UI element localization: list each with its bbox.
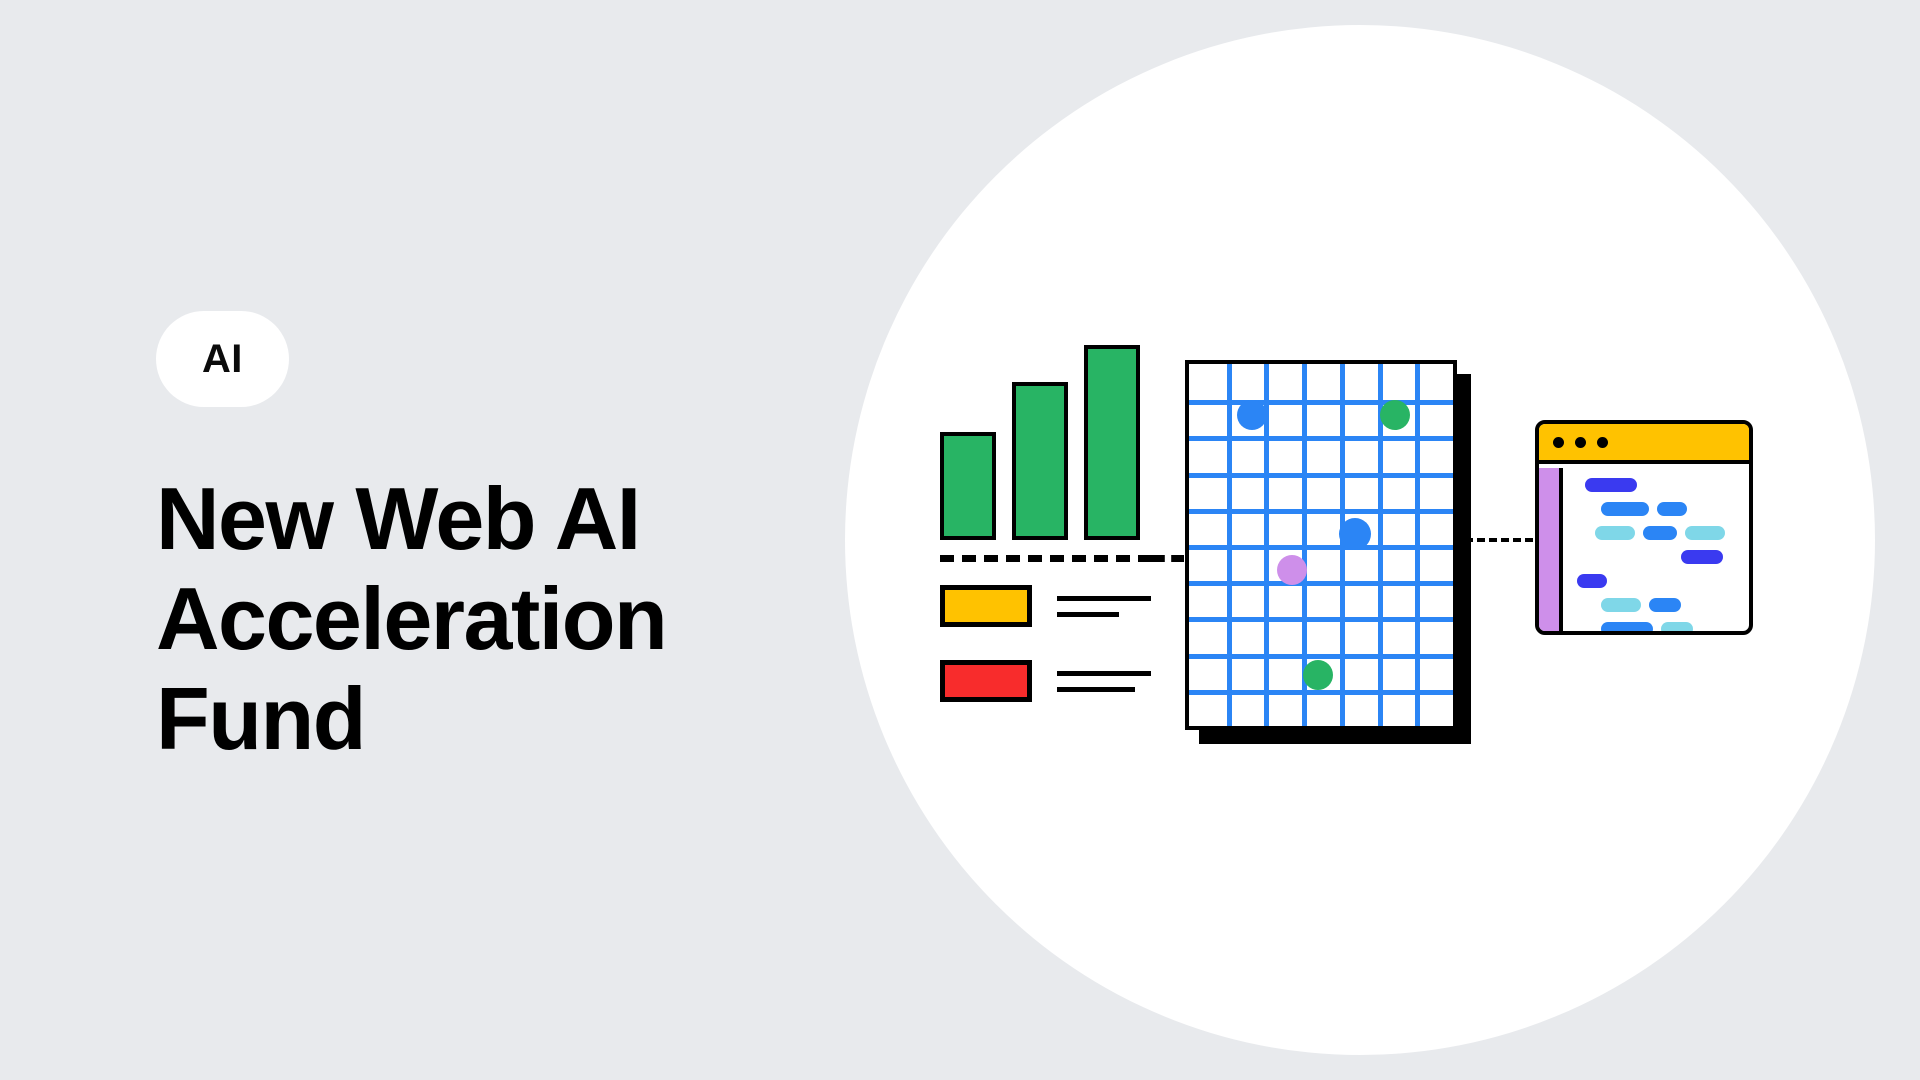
code-editor-window[interactable] (1535, 420, 1753, 635)
grid-line-horizontal (1189, 400, 1453, 405)
legend-row-yellow (940, 585, 1151, 627)
code-window-body (1539, 468, 1749, 631)
scatter-point-5 (1303, 660, 1333, 690)
grid-line-horizontal (1189, 690, 1453, 695)
code-token (1601, 622, 1653, 635)
scatter-point-3 (1339, 518, 1371, 550)
grid-line-horizontal (1189, 617, 1453, 622)
headline-line-3: Fund (156, 669, 365, 768)
scatter-grid-card (1185, 360, 1457, 730)
grid-line-horizontal (1189, 545, 1453, 550)
bar-chart-bar-3 (1084, 345, 1140, 540)
code-token (1657, 502, 1687, 516)
grid-line-horizontal (1189, 436, 1453, 441)
code-lines-container (1563, 468, 1749, 631)
legend-line (1057, 596, 1151, 601)
chart-dashed-divider (940, 555, 1152, 562)
headline-line-1: New Web AI (156, 469, 640, 568)
legend-text-lines (1057, 671, 1151, 692)
hero-text-column: AI New Web AI Acceleration Fund (156, 0, 856, 1080)
scatter-point-2 (1380, 400, 1410, 430)
grid-to-code-connector (1465, 538, 1533, 542)
code-token (1661, 622, 1693, 635)
hero-illustration (845, 25, 1875, 1055)
code-token (1681, 550, 1723, 564)
scatter-point-4 (1277, 555, 1307, 585)
grid-card-surface (1185, 360, 1457, 730)
grid-line-horizontal (1189, 509, 1453, 514)
window-control-dot[interactable] (1597, 437, 1608, 448)
window-control-dot[interactable] (1575, 437, 1586, 448)
code-token (1643, 526, 1677, 540)
legend-line (1057, 612, 1119, 617)
code-token (1685, 526, 1725, 540)
category-badge[interactable]: AI (156, 311, 289, 407)
bar-chart-bar-2 (1012, 382, 1068, 540)
scatter-point-1 (1237, 400, 1267, 430)
code-token (1649, 598, 1681, 612)
code-token (1601, 502, 1649, 516)
grid-line-horizontal (1189, 654, 1453, 659)
grid-line-horizontal (1189, 581, 1453, 586)
bars-to-grid-connector (1152, 555, 1184, 562)
category-badge-label: AI (202, 339, 243, 379)
legend-text-lines (1057, 596, 1151, 617)
code-token (1595, 526, 1635, 540)
grid-line-horizontal (1189, 473, 1453, 478)
code-window-titlebar (1539, 424, 1749, 464)
code-token (1585, 478, 1637, 492)
yellow-legend-swatch (940, 585, 1032, 627)
legend-row-red (940, 660, 1151, 702)
red-legend-swatch (940, 660, 1032, 702)
legend-line (1057, 687, 1135, 692)
bar-chart-bar-1 (940, 432, 996, 540)
code-window-sidebar (1539, 468, 1563, 631)
legend-line (1057, 671, 1151, 676)
headline-line-2: Acceleration (156, 569, 666, 668)
code-token (1601, 598, 1641, 612)
code-token (1577, 574, 1607, 588)
window-control-dot[interactable] (1553, 437, 1564, 448)
grid-lines-container (1189, 364, 1453, 726)
page-title: New Web AI Acceleration Fund (156, 469, 666, 770)
